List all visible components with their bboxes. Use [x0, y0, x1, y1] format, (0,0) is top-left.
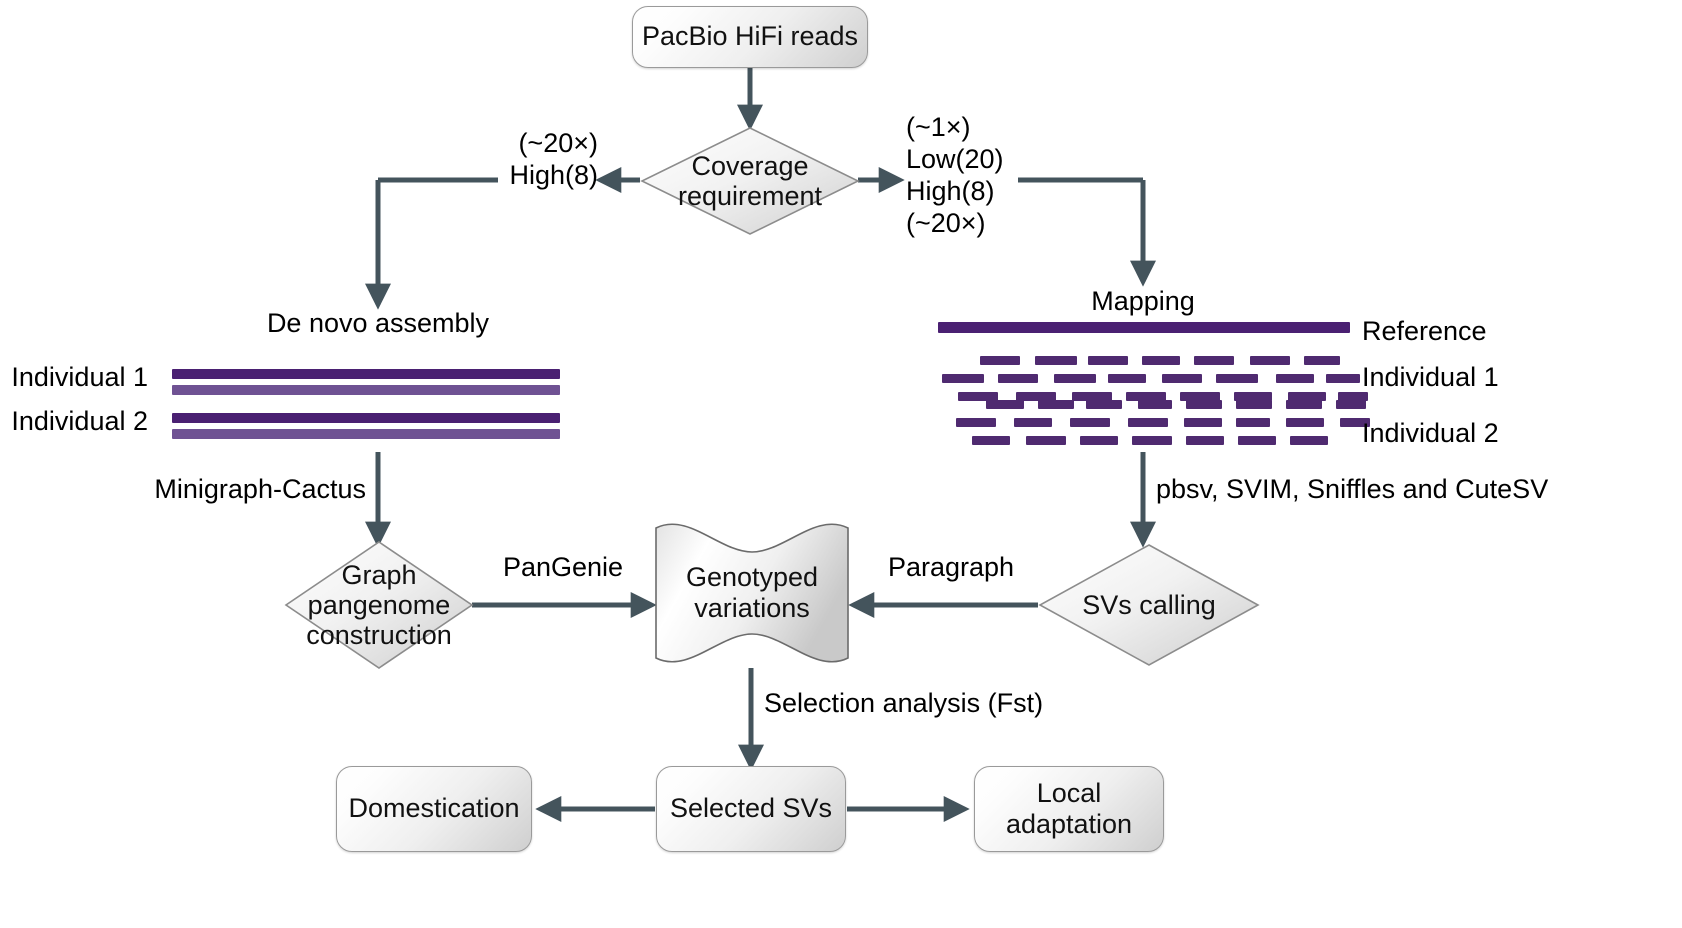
- mapping-individual-1-label: Individual 1: [1362, 362, 1499, 394]
- node-label: Domestication: [348, 793, 519, 824]
- mapping-reference-label: Reference: [1362, 316, 1487, 348]
- node-label: PacBio HiFi reads: [642, 21, 858, 52]
- edge-label-left-branch: (~20×) High(8): [420, 128, 598, 192]
- edge-label-sv-callers: pbsv, SVIM, Sniffles and CuteSV: [1156, 474, 1548, 506]
- edge-label-paragraph: Paragraph: [866, 552, 1036, 584]
- assembly-individual-2-label: Individual 2: [0, 406, 148, 438]
- edge-label-pangenie: PanGenie: [478, 552, 648, 584]
- node-label: Selected SVs: [670, 793, 832, 824]
- assembly-ind2-haplotype-a: [172, 413, 560, 423]
- mapping-individual-2-label: Individual 2: [1362, 418, 1499, 450]
- assembly-individual-1-label: Individual 1: [0, 362, 148, 394]
- flowchart-canvas: PacBio HiFi reads Coverage requirement (…: [0, 0, 1682, 928]
- edge-label-minigraph-cactus: Minigraph-Cactus: [110, 474, 366, 506]
- node-selected-svs[interactable]: Selected SVs: [656, 766, 846, 852]
- node-genotyped-variations[interactable]: Genotyped variations: [652, 518, 852, 668]
- node-graph-pangenome-construction[interactable]: Graph pangenome construction: [284, 540, 474, 670]
- assembly-ind1-haplotype-b: [172, 385, 560, 395]
- assembly-ind1-haplotype-a: [172, 369, 560, 379]
- node-svs-calling[interactable]: SVs calling: [1038, 543, 1260, 667]
- node-mapping: Mapping: [1043, 286, 1243, 318]
- node-local-adaptation[interactable]: Local adaptation: [974, 766, 1164, 852]
- node-de-novo-assembly: De novo assembly: [228, 308, 528, 340]
- assembly-ind2-haplotype-b: [172, 429, 560, 439]
- mapping-reference-bar: [938, 322, 1350, 333]
- node-pacbio-hifi-reads[interactable]: PacBio HiFi reads: [632, 6, 868, 68]
- node-domestication[interactable]: Domestication: [336, 766, 532, 852]
- node-label: Local adaptation: [1006, 778, 1132, 840]
- mapping-ind2-reads: [930, 400, 1360, 454]
- edge-label-selection-analysis: Selection analysis (Fst): [764, 688, 1043, 720]
- node-coverage-requirement[interactable]: Coverage requirement: [640, 126, 860, 236]
- edge-label-right-branch: (~1×) Low(20) High(8) (~20×): [906, 112, 1106, 239]
